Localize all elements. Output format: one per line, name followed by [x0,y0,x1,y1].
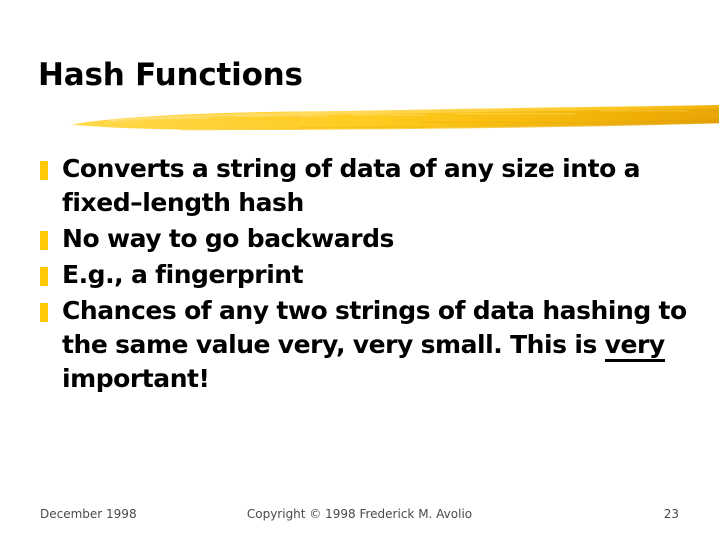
yellow-brush-stroke-divider [0,96,719,140]
gold-square-bullet-icon [40,303,48,322]
brush-body [72,105,719,130]
gold-square-bullet-icon [40,231,48,250]
bullet-text-tail: important! [62,364,210,393]
brush-highlight [110,105,719,122]
gold-square-bullet-icon [40,161,48,180]
list-item: E.g., a fingerprint [40,258,695,292]
brush-taper [66,115,300,127]
brush-stroke-icon [0,96,719,140]
brush-shadow [180,118,719,130]
bullet-text: Converts a string of data of any size in… [62,152,695,220]
slide-canvas: Hash Functions [0,0,719,539]
list-item: Converts a string of data of any size in… [40,152,695,220]
list-item: No way to go backwards [40,222,695,256]
bullet-text-lead: Chances of any two strings of data hashi… [62,296,687,359]
footer-page-number: 23 [0,506,679,522]
brush-texture [150,110,708,127]
list-item: Chances of any two strings of data hashi… [40,294,695,396]
slide-footer: December 1998 Copyright © 1998 Frederick… [0,504,719,524]
bullet-text: E.g., a fingerprint [62,258,695,292]
bullet-text: No way to go backwards [62,222,695,256]
bullet-text-emphasis: very [605,330,665,362]
bullet-list: Converts a string of data of any size in… [40,152,695,398]
bullet-text: Chances of any two strings of data hashi… [62,294,695,396]
page-title: Hash Functions [38,57,303,93]
gold-square-bullet-icon [40,267,48,286]
